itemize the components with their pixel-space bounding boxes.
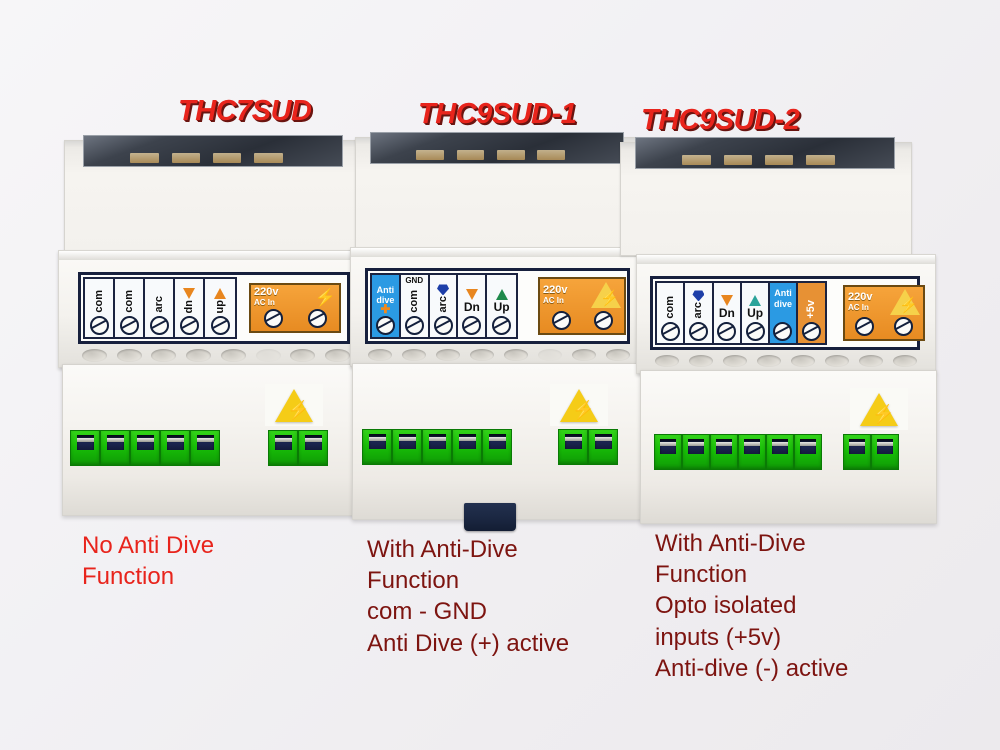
high-voltage-warning-icon: ⚡ bbox=[560, 389, 598, 422]
terminal-label-gnd: GND bbox=[405, 277, 423, 285]
green-terminal[interactable] bbox=[654, 434, 682, 470]
arrow-up-orange-icon bbox=[214, 288, 226, 299]
caption-unit1: No Anti Dive Function bbox=[82, 530, 214, 592]
terminal-label: arc bbox=[693, 302, 704, 319]
screw-access-holes-unit1 bbox=[82, 348, 350, 362]
power-input-label: AC In bbox=[848, 304, 872, 312]
terminal-gnd-com[interactable]: GND com bbox=[401, 275, 430, 337]
terminal-label: com bbox=[124, 290, 135, 313]
device-top-housing-unit3 bbox=[620, 142, 912, 256]
terminal-plus5v[interactable]: +5v bbox=[798, 283, 825, 343]
green-terminal[interactable] bbox=[422, 429, 452, 465]
terminal-dn[interactable]: Dn bbox=[458, 275, 487, 337]
terminal-label-top: Anti bbox=[774, 289, 792, 298]
green-terminal[interactable] bbox=[871, 434, 899, 470]
power-screw-icon[interactable] bbox=[594, 311, 613, 330]
terminal-arc[interactable]: arc bbox=[685, 283, 713, 343]
terminal-anti-dive[interactable]: Anti dive bbox=[770, 283, 797, 343]
model-title-unit1: THC7SUD bbox=[178, 95, 311, 128]
power-input-label: AC In bbox=[254, 299, 278, 307]
green-terminal[interactable] bbox=[130, 430, 160, 466]
terminal-cell-group-unit2: Anti dive ✚ GND com arc bbox=[370, 273, 518, 339]
arrow-up-teal-icon bbox=[749, 295, 761, 306]
terminal-com-1[interactable]: com bbox=[85, 279, 115, 337]
green-terminal[interactable] bbox=[298, 430, 328, 466]
power-screw-icon[interactable] bbox=[855, 317, 874, 336]
green-terminal[interactable] bbox=[160, 430, 190, 466]
caption-unit3: With Anti-Dive Function Opto isolated in… bbox=[655, 528, 848, 684]
green-terminal[interactable] bbox=[710, 434, 738, 470]
power-input-badge-unit2: 220v AC In ⚡ bbox=[538, 277, 626, 335]
high-voltage-warning-icon: ⚡ bbox=[860, 393, 898, 426]
green-terminal[interactable] bbox=[452, 429, 482, 465]
terminal-dn[interactable]: dn bbox=[175, 279, 205, 337]
terminal-arc[interactable]: arc bbox=[430, 275, 459, 337]
terminal-label-top: Anti bbox=[377, 286, 395, 295]
photo-stage: com com arc dn bbox=[0, 0, 1000, 750]
arrow-down-orange-icon bbox=[721, 295, 733, 306]
green-terminal[interactable] bbox=[766, 434, 794, 470]
high-voltage-warning-icon: ⚡ bbox=[275, 389, 313, 422]
terminal-up[interactable]: up bbox=[205, 279, 235, 337]
high-voltage-warning-sticker-unit3: ⚡ bbox=[850, 388, 908, 430]
terminal-screw-icon[interactable] bbox=[802, 322, 821, 341]
green-terminal-block-signal-unit1 bbox=[70, 430, 220, 466]
green-terminal-block-mains-unit1 bbox=[268, 430, 328, 466]
terminal-label-bottom: dive bbox=[774, 300, 792, 309]
green-terminal[interactable] bbox=[843, 434, 871, 470]
terminal-screw-icon[interactable] bbox=[90, 316, 109, 335]
terminal-label: Up bbox=[494, 301, 510, 313]
green-terminal[interactable] bbox=[268, 430, 298, 466]
terminal-label: dn bbox=[184, 300, 195, 313]
terminal-label-card-unit1: com com arc dn bbox=[78, 272, 350, 344]
green-terminal[interactable] bbox=[190, 430, 220, 466]
terminal-screw-icon[interactable] bbox=[746, 322, 765, 341]
terminal-label-card-unit3: com arc Dn Up bbox=[650, 276, 920, 350]
terminal-screw-icon[interactable] bbox=[492, 316, 511, 335]
terminal-label: com bbox=[409, 290, 420, 313]
green-terminal-block-mains-unit3 bbox=[843, 434, 899, 470]
terminal-label: arc bbox=[438, 296, 449, 313]
green-terminal[interactable] bbox=[794, 434, 822, 470]
terminal-com-2[interactable]: com bbox=[115, 279, 145, 337]
green-terminal[interactable] bbox=[100, 430, 130, 466]
terminal-com[interactable]: com bbox=[657, 283, 685, 343]
terminal-cell-group-unit1: com com arc dn bbox=[83, 277, 237, 339]
device-display-unit3 bbox=[635, 137, 895, 169]
terminal-screw-icon[interactable] bbox=[376, 316, 395, 335]
terminal-screw-icon[interactable] bbox=[717, 322, 736, 341]
din-rail-clip-unit2 bbox=[464, 503, 516, 531]
terminal-arc[interactable]: arc bbox=[145, 279, 175, 337]
green-terminal-block-signal-unit3 bbox=[654, 434, 822, 470]
terminal-label-card-unit2: Anti dive ✚ GND com arc bbox=[365, 268, 630, 344]
terminal-screw-icon[interactable] bbox=[120, 316, 139, 335]
terminal-screw-icon[interactable] bbox=[405, 316, 424, 335]
high-voltage-triangle-icon: ⚡ bbox=[591, 282, 621, 308]
green-terminal[interactable] bbox=[482, 429, 512, 465]
device-display-unit2 bbox=[370, 132, 624, 164]
green-terminal[interactable] bbox=[588, 429, 618, 465]
power-screw-icon[interactable] bbox=[308, 309, 327, 328]
pentagon-blue-icon bbox=[437, 284, 449, 295]
terminal-label: Dn bbox=[719, 307, 735, 319]
terminal-screw-icon[interactable] bbox=[462, 316, 481, 335]
terminal-label: +5v bbox=[806, 300, 817, 319]
terminal-screw-icon[interactable] bbox=[434, 316, 453, 335]
device-display-unit1 bbox=[83, 135, 343, 167]
power-screw-icon[interactable] bbox=[894, 317, 913, 336]
power-screw-icon[interactable] bbox=[552, 311, 571, 330]
green-terminal[interactable] bbox=[682, 434, 710, 470]
terminal-screw-icon[interactable] bbox=[773, 322, 792, 341]
terminal-anti-dive[interactable]: Anti dive ✚ bbox=[372, 275, 401, 337]
green-terminal[interactable] bbox=[738, 434, 766, 470]
terminal-label: up bbox=[215, 300, 226, 313]
terminal-screw-icon[interactable] bbox=[689, 322, 708, 341]
green-terminal-block-mains-unit2 bbox=[558, 429, 618, 465]
power-voltage-label: 220v bbox=[543, 285, 567, 297]
lightning-bolt-icon: ⚡ bbox=[315, 289, 336, 306]
high-voltage-warning-sticker-unit1: ⚡ bbox=[265, 384, 323, 426]
high-voltage-warning-sticker-unit2: ⚡ bbox=[550, 384, 608, 426]
terminal-label: arc bbox=[154, 296, 165, 313]
terminal-up[interactable]: Up bbox=[487, 275, 516, 337]
device-top-housing-unit2 bbox=[355, 137, 639, 249]
terminal-dn[interactable]: Dn bbox=[714, 283, 742, 343]
terminal-label: com bbox=[94, 290, 105, 313]
terminal-label: Up bbox=[747, 307, 763, 319]
power-input-label: AC In bbox=[543, 297, 567, 305]
terminal-screw-icon[interactable] bbox=[661, 322, 680, 341]
power-input-badge-unit1: 220v AC In ⚡ bbox=[249, 283, 341, 333]
green-terminal[interactable] bbox=[362, 429, 392, 465]
terminal-up[interactable]: Up bbox=[742, 283, 770, 343]
terminal-screw-icon[interactable] bbox=[180, 316, 199, 335]
terminal-screw-icon[interactable] bbox=[150, 316, 169, 335]
green-terminal[interactable] bbox=[70, 430, 100, 466]
caption-unit2: With Anti-Dive Function com - GND Anti D… bbox=[367, 534, 569, 659]
device-top-housing-unit1 bbox=[64, 140, 358, 252]
arrow-up-green-icon bbox=[496, 289, 508, 300]
green-terminal[interactable] bbox=[392, 429, 422, 465]
pentagon-blue-icon bbox=[692, 290, 704, 301]
screw-access-holes-unit3 bbox=[655, 354, 917, 368]
arrow-down-orange-icon bbox=[466, 289, 478, 300]
terminal-cell-group-unit3: com arc Dn Up bbox=[655, 281, 827, 345]
power-voltage-label: 220v bbox=[254, 287, 278, 299]
power-input-badge-unit3: 220v AC In ⚡ bbox=[843, 285, 925, 341]
screw-access-holes-unit2 bbox=[368, 348, 630, 362]
model-title-unit3: THC9SUD-2 bbox=[641, 104, 799, 137]
green-terminal[interactable] bbox=[558, 429, 588, 465]
terminal-label: Dn bbox=[464, 301, 480, 313]
arrow-down-orange-icon bbox=[183, 288, 195, 299]
terminal-screw-icon[interactable] bbox=[211, 316, 230, 335]
green-terminal-block-signal-unit2 bbox=[362, 429, 512, 465]
power-voltage-label: 220v bbox=[848, 292, 872, 304]
high-voltage-triangle-icon: ⚡ bbox=[890, 289, 920, 315]
model-title-unit2: THC9SUD-1 bbox=[418, 98, 576, 131]
power-screw-icon[interactable] bbox=[264, 309, 283, 328]
plus-sign-icon: ✚ bbox=[380, 305, 390, 313]
terminal-label: com bbox=[665, 296, 676, 319]
